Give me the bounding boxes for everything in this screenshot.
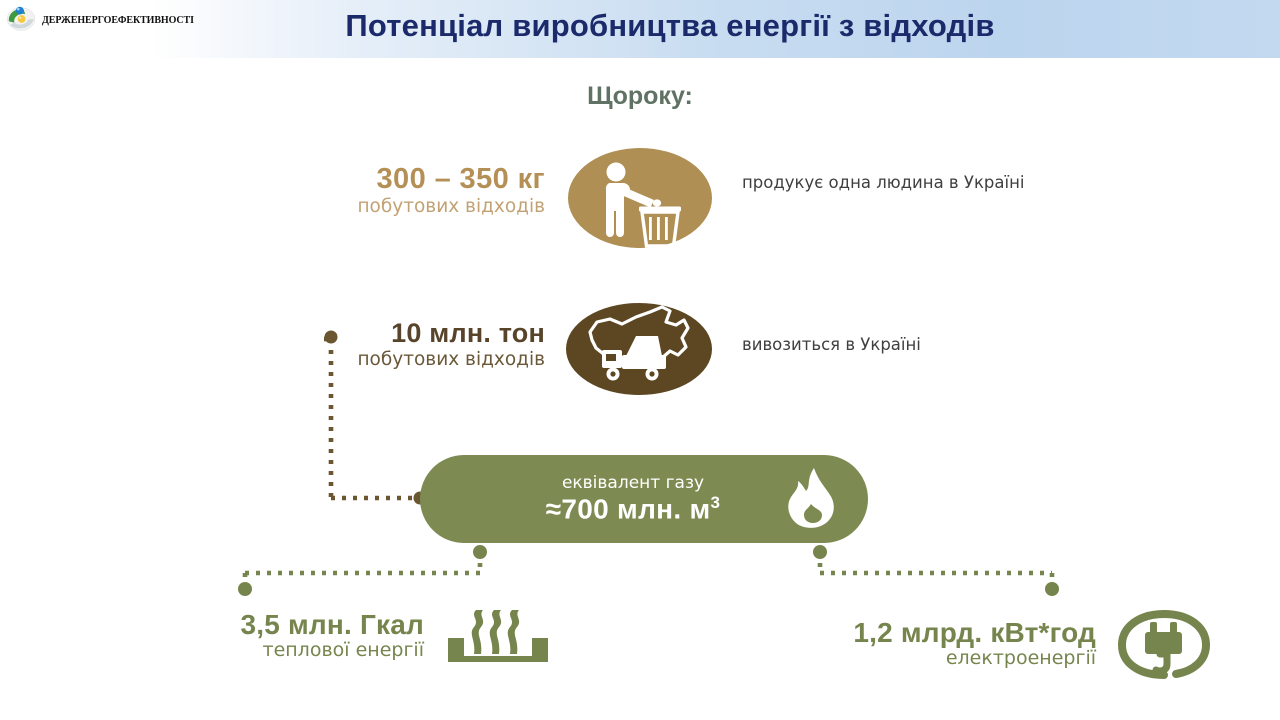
gas-value-number: ≈700 млн. м [546,493,711,524]
stat-label: побутових відходів [0,350,545,369]
stat-label: теплової енергії [150,641,424,661]
stat-label: побутових відходів [0,197,545,216]
gas-equivalent-card: еквівалент газу ≈700 млн. м3 [420,455,868,543]
stat-block-heat-energy: 3,5 млн. Гкал теплової енергії [150,608,550,664]
page-title: Потенціал виробництва енергії з відходів [0,8,1280,44]
stat-value: 300 – 350 кг [0,165,545,195]
stat-block-electric-energy: 1,2 млрд. кВт*год електроенергії [760,608,1210,680]
power-plug-icon [1118,608,1210,680]
stat-value: 10 млн. тон [0,320,545,348]
gas-caption: еквівалент газу [486,474,780,493]
heat-texts: 3,5 млн. Гкал теплової енергії [150,611,424,661]
stat-block-waste-collected: 10 млн. тон побутових відходів [0,320,545,369]
connector-waste-to-gas [300,325,440,520]
stat-description-waste-collected: вивозиться в Україні [742,334,1062,356]
connector-gas-to-electricity [800,540,1080,610]
gas-value: ≈700 млн. м3 [486,494,780,525]
stat-value: 3,5 млн. Гкал [150,611,424,640]
stat-block-waste-per-person: 300 – 350 кг побутових відходів [0,165,545,216]
connector-gas-to-heat [230,540,500,610]
flame-icon [780,466,842,532]
page-header: Держенергоефективності Потенціал виробни… [0,0,1280,58]
stat-value: 1,2 млрд. кВт*год [760,619,1096,648]
gas-value-exponent: 3 [711,493,721,512]
stat-label: електроенергії [760,649,1096,669]
subtitle: Щороку: [0,82,1280,111]
gas-texts: еквівалент газу ≈700 млн. м3 [420,474,780,524]
person-throwing-trash-icon [568,143,713,253]
heat-energy-icon [446,608,550,664]
elec-texts: 1,2 млрд. кВт*год електроенергії [760,619,1096,669]
stat-description-waste-per-person: продукує одна людина в Україні [742,172,1042,194]
garbage-truck-ukraine-map-icon [566,298,712,400]
